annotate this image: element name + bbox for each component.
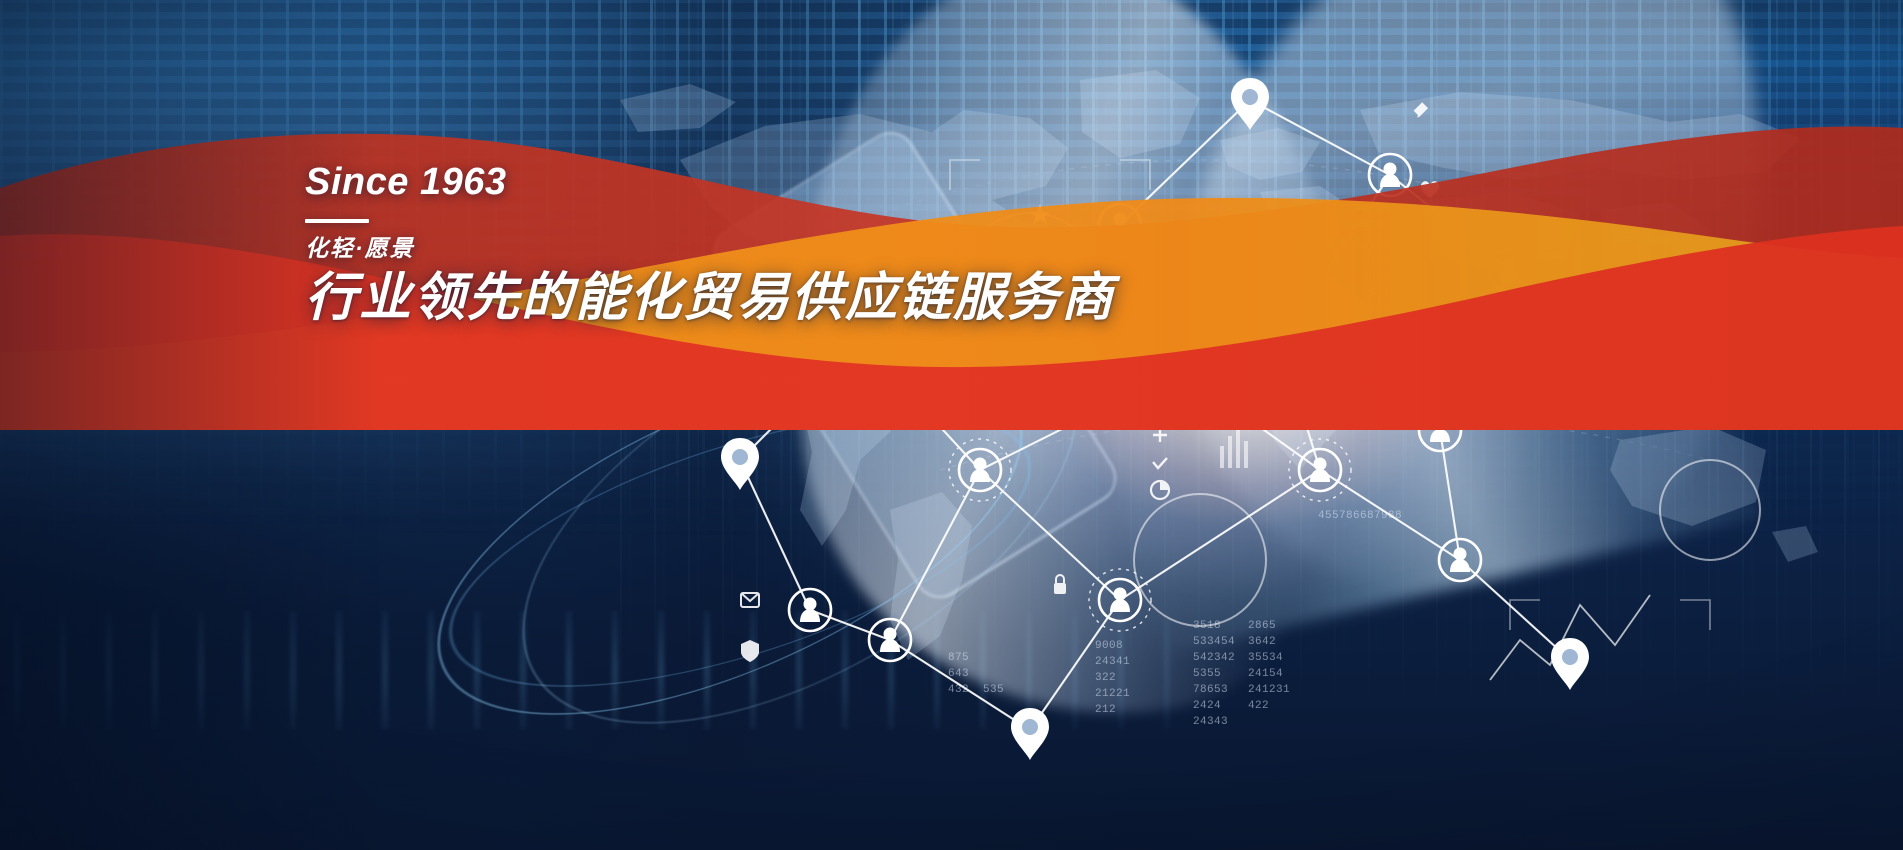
background-gradient bbox=[0, 0, 1903, 850]
data-column-6: 455786687988 bbox=[1318, 508, 1402, 524]
background-light-band bbox=[0, 0, 1903, 850]
data-column-5: 875 643 432 535 bbox=[948, 650, 1004, 698]
hero-banner: CORPORATE SUCCESS ENTERPRISE COLLABORATI… bbox=[0, 0, 1903, 850]
divider-rule bbox=[305, 219, 369, 223]
city-lights-blur bbox=[0, 610, 1203, 730]
watermark-partner: PARTNER bbox=[770, 344, 842, 370]
page-title: 行业领先的能化贸易供应链服务商 bbox=[305, 269, 1115, 327]
hero-copy: Since 1963 化轻·愿景 行业领先的能化贸易供应链服务商 bbox=[305, 163, 1115, 328]
data-column-4: 565964 645646 5956564 6564568 1265489 bbox=[1362, 238, 1411, 318]
arm-shape bbox=[1112, 0, 1849, 663]
vignette-overlay bbox=[0, 0, 1903, 850]
swirl-arc-1 bbox=[389, 293, 1070, 787]
world-map bbox=[560, 40, 1903, 670]
light-beam bbox=[1099, 264, 1762, 657]
background-office-blur bbox=[0, 0, 1903, 850]
vision-label: 化轻·愿景 bbox=[305, 235, 1115, 261]
data-column-2: 2865 3642 35534 24154 241231 422 bbox=[1248, 618, 1290, 714]
hand-shape bbox=[734, 0, 1406, 759]
data-column-1: 3518 533454 542342 5355 78653 2424 24343 bbox=[1193, 618, 1235, 730]
data-column-3: 9008 24341 322 21221 212 bbox=[1095, 638, 1130, 718]
since-label: Since 1963 bbox=[305, 163, 1115, 201]
